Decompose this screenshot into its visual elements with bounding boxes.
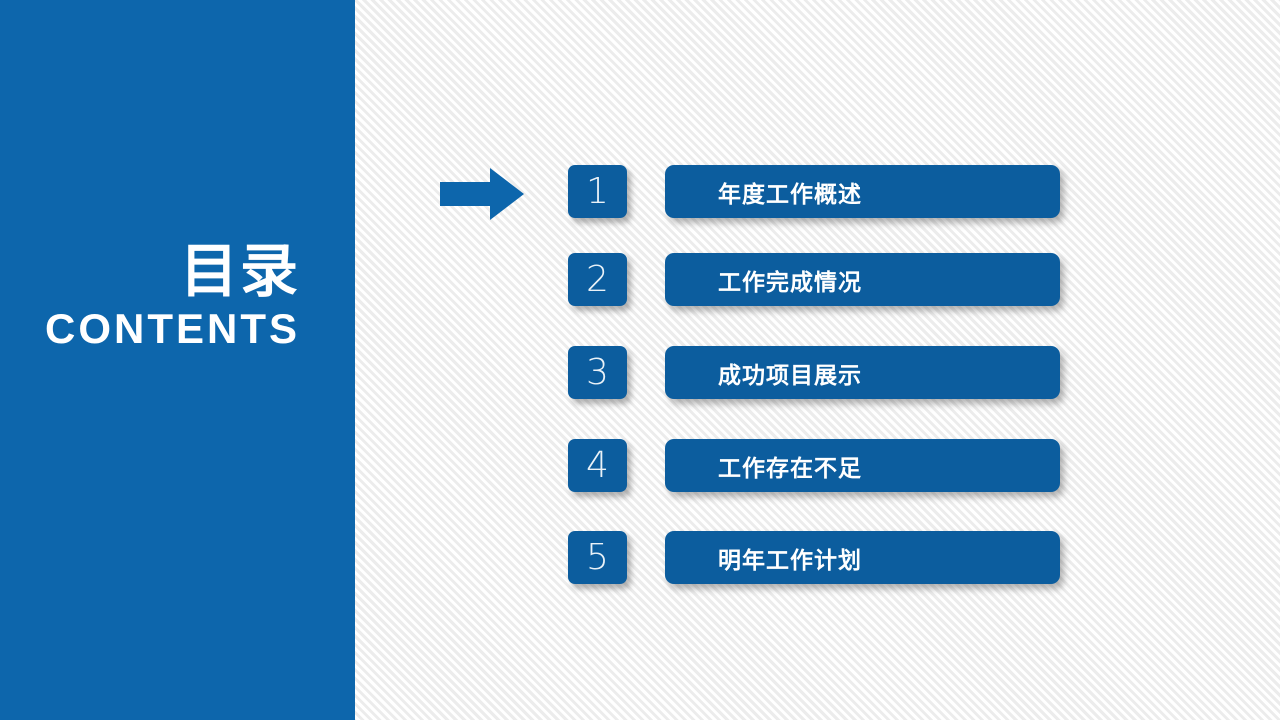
page-title-en: CONTENTS (20, 305, 300, 353)
sidebar-panel: 目录 CONTENTS (0, 0, 355, 720)
slide-title-group: 目录 CONTENTS (20, 243, 300, 353)
item-label-text: 成功项目展示 (665, 356, 862, 390)
item-number-badge[interactable]: 5 (568, 531, 627, 584)
item-label-text: 年度工作概述 (665, 175, 862, 209)
page-title-cn: 目录 (20, 243, 300, 301)
item-label-bar[interactable]: 工作存在不足 (665, 439, 1060, 492)
presentation-slide: 目录 CONTENTS 1 年度工作概述 2 工作完成情况 (0, 0, 1280, 720)
item-label-bar[interactable]: 明年工作计划 (665, 531, 1060, 584)
list-item[interactable]: 4 工作存在不足 (568, 439, 1060, 492)
item-label-text: 明年工作计划 (665, 541, 862, 575)
item-number-badge[interactable]: 4 (568, 439, 627, 492)
list-item[interactable]: 3 成功项目展示 (568, 346, 1060, 399)
list-item[interactable]: 1 年度工作概述 (568, 165, 1060, 218)
item-number-badge[interactable]: 2 (568, 253, 627, 306)
item-label-bar[interactable]: 工作完成情况 (665, 253, 1060, 306)
item-number-label: 2 (586, 262, 609, 298)
item-number-label: 3 (586, 355, 609, 391)
list-item[interactable]: 2 工作完成情况 (568, 253, 1060, 306)
item-number-label: 1 (586, 174, 609, 210)
item-label-bar[interactable]: 年度工作概述 (665, 165, 1060, 218)
item-number-label: 4 (586, 448, 609, 484)
right-arrow-icon (440, 168, 524, 220)
item-number-badge[interactable]: 1 (568, 165, 627, 218)
item-label-bar[interactable]: 成功项目展示 (665, 346, 1060, 399)
item-label-text: 工作存在不足 (665, 449, 862, 483)
list-item[interactable]: 5 明年工作计划 (568, 531, 1060, 584)
item-number-badge[interactable]: 3 (568, 346, 627, 399)
item-number-label: 5 (586, 540, 609, 576)
item-label-text: 工作完成情况 (665, 263, 862, 297)
